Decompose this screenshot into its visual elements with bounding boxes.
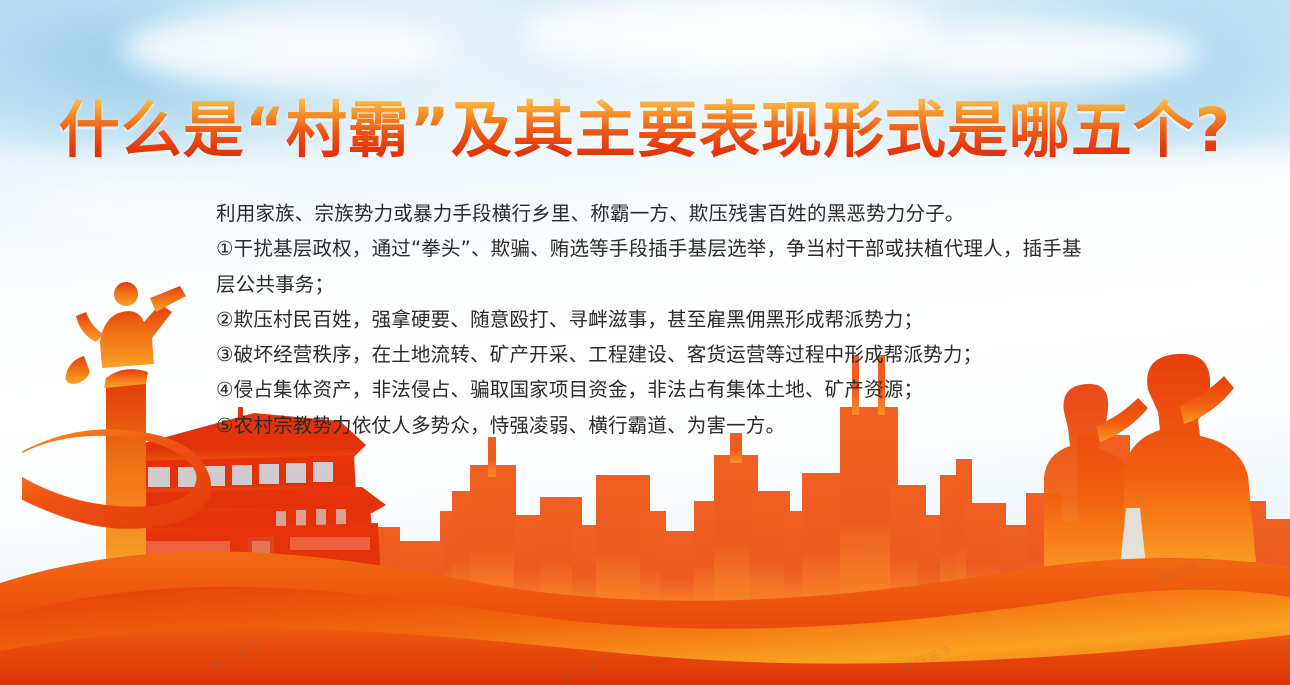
title-block: 什么是“村霸”及其主要表现形式是哪五个?	[0, 96, 1290, 166]
item-3-paragraph: ③破坏经营秩序，在土地流转、矿产开采、工程建设、客货运营等过程中形成帮派势力；	[216, 337, 1096, 372]
page-title: 什么是“村霸”及其主要表现形式是哪五个?	[59, 96, 1232, 166]
definition-paragraph: 利用家族、宗族势力或暴力手段横行乡里、称霸一方、欺压残害百姓的黑恶势力分子。	[216, 196, 1096, 231]
item-5-paragraph: ⑤农村宗教势力依仗人多势众，恃强凌弱、横行霸道、为害一方。	[216, 408, 1096, 443]
item-4-paragraph: ④侵占集体资产，非法侵占、骗取国家项目资金，非法占有集体土地、矿产资源；	[216, 372, 1096, 407]
cloud-1	[120, 12, 450, 86]
body-text-block: 利用家族、宗族势力或暴力手段横行乡里、称霸一方、欺压残害百姓的黑恶势力分子。 ①…	[216, 196, 1096, 443]
item-2-paragraph: ②欺压村民百姓，强拿硬要、随意殴打、寻衅滋事，甚至雇黑佣黑形成帮派势力；	[216, 302, 1096, 337]
cloud-3	[900, 24, 1200, 84]
poster-canvas: 什么是“村霸”及其主要表现形式是哪五个? 利用家族、宗族势力或暴力手段横行乡里、…	[0, 0, 1290, 685]
item-1-paragraph: ①干扰基层政权，通过“拳头”、欺骗、贿选等手段插手基层选举，争当村干部或扶植代理…	[216, 231, 1096, 302]
red-hills	[0, 485, 1290, 685]
